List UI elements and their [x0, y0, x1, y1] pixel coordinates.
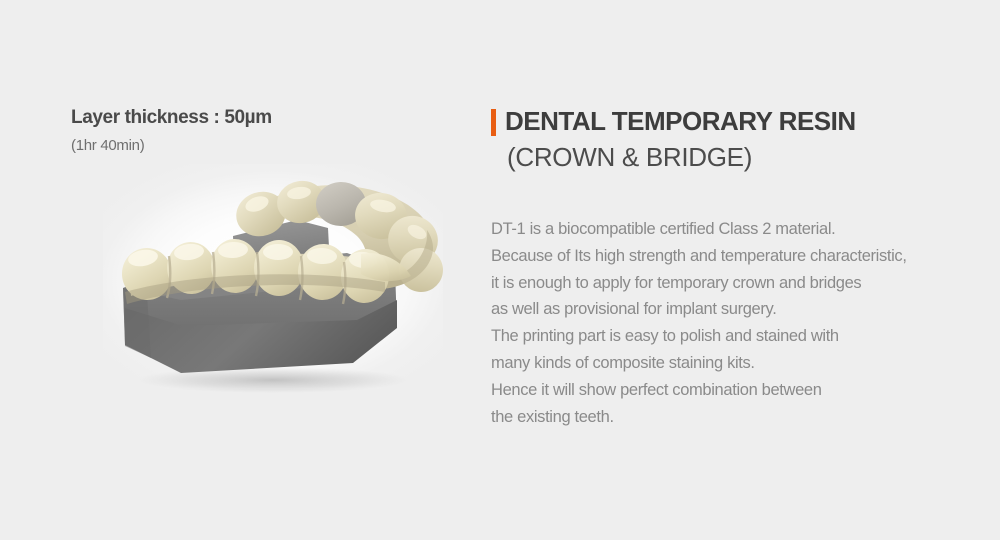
description-line: it is enough to apply for temporary crow… [491, 270, 996, 297]
accent-bar [491, 109, 496, 136]
description-text: DT-1 is a biocompatible certified Class … [491, 216, 996, 430]
product-text-panel: DENTAL TEMPORARY RESIN (CROWN & BRIDGE) … [470, 0, 1000, 540]
product-image-panel: Layer thickness : 50µm (1hr 40min) [0, 0, 470, 540]
description-line: as well as provisional for implant surge… [491, 296, 996, 323]
description-line: Because of Its high strength and tempera… [491, 243, 996, 270]
layer-thickness-label: Layer thickness : 50µm [71, 107, 401, 129]
title-group: DENTAL TEMPORARY RESIN (CROWN & BRIDGE) [491, 105, 991, 174]
description-line: Hence it will show perfect combination b… [491, 377, 996, 404]
page-title: DENTAL TEMPORARY RESIN [505, 105, 856, 137]
product-photo [95, 158, 450, 393]
description-line: the existing teeth. [491, 404, 996, 431]
description-line: DT-1 is a biocompatible certified Class … [491, 216, 996, 243]
spec-block: Layer thickness : 50µm (1hr 40min) [71, 107, 401, 155]
description-line: The printing part is easy to polish and … [491, 323, 996, 350]
page-subtitle: (CROWN & BRIDGE) [507, 141, 991, 174]
print-time-label: (1hr 40min) [71, 137, 401, 155]
description-line: many kinds of composite staining kits. [491, 350, 996, 377]
product-info-slide: Layer thickness : 50µm (1hr 40min) [0, 0, 1000, 540]
dental-model-illustration [95, 158, 450, 393]
title-row: DENTAL TEMPORARY RESIN [491, 105, 991, 139]
